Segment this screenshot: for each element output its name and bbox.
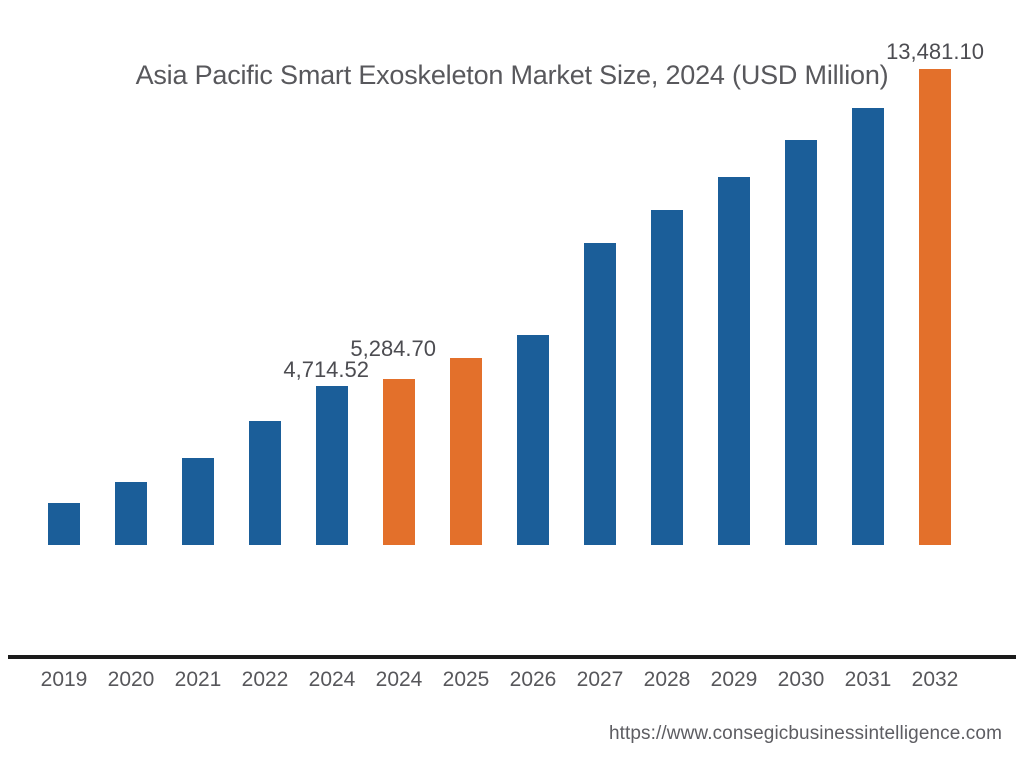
x-tick-label-9: 2028 <box>635 665 699 695</box>
bar-2021-2[interactable] <box>182 458 214 545</box>
bar-2026-7[interactable] <box>517 335 549 545</box>
bar-2029-10[interactable] <box>718 177 750 545</box>
bar-2020-1[interactable] <box>115 482 147 545</box>
x-tick-label-2: 2021 <box>166 665 230 695</box>
bar-group[interactable] <box>836 65 900 545</box>
bar-group[interactable] <box>635 65 699 545</box>
bar-2027-8[interactable] <box>584 243 616 545</box>
bar-2032-13[interactable]: 13,481.10 <box>919 69 951 545</box>
bar-group[interactable] <box>166 65 230 545</box>
bar-2030-11[interactable] <box>785 140 817 545</box>
x-axis-line <box>8 655 1016 659</box>
bar-2024-5[interactable]: 4,714.52 <box>383 379 415 545</box>
plot-area: 4,714.525,284.7013,481.10 <box>0 0 1024 658</box>
bar-2019-0[interactable] <box>48 503 80 545</box>
x-axis-tick-labels: 2019202020212022202420242025202620272028… <box>0 663 1024 699</box>
x-tick-label-0: 2019 <box>32 665 96 695</box>
bar-group[interactable] <box>233 65 297 545</box>
bar-2025-6[interactable]: 5,284.70 <box>450 358 482 545</box>
x-tick-label-11: 2030 <box>769 665 833 695</box>
bar-group[interactable] <box>568 65 632 545</box>
x-tick-label-3: 2022 <box>233 665 297 695</box>
x-tick-label-10: 2029 <box>702 665 766 695</box>
x-tick-label-6: 2025 <box>434 665 498 695</box>
x-tick-label-1: 2020 <box>99 665 163 695</box>
bar-group[interactable]: 13,481.10 <box>903 65 967 545</box>
bar-group[interactable] <box>99 65 163 545</box>
bar-2031-12[interactable] <box>852 108 884 545</box>
bar-2024-4[interactable] <box>316 386 348 545</box>
bar-value-label: 5,284.70 <box>350 336 436 362</box>
x-tick-label-8: 2027 <box>568 665 632 695</box>
bar-group[interactable]: 4,714.52 <box>367 65 431 545</box>
source-url-text: https://www.consegicbusinessintelligence… <box>609 723 1002 745</box>
bar-2022-3[interactable] <box>249 421 281 545</box>
bar-group[interactable] <box>32 65 96 545</box>
bar-group[interactable] <box>501 65 565 545</box>
x-tick-label-12: 2031 <box>836 665 900 695</box>
bar-chart-figure: Asia Pacific Smart Exoskeleton Market Si… <box>0 0 1024 768</box>
x-tick-label-5: 2024 <box>367 665 431 695</box>
bar-group[interactable] <box>769 65 833 545</box>
x-tick-label-4: 2024 <box>300 665 364 695</box>
bar-group[interactable] <box>702 65 766 545</box>
x-tick-label-7: 2026 <box>501 665 565 695</box>
x-tick-label-13: 2032 <box>903 665 967 695</box>
bar-group[interactable]: 5,284.70 <box>434 65 498 545</box>
bar-value-label: 13,481.10 <box>886 39 984 65</box>
bar-2028-9[interactable] <box>651 210 683 545</box>
bar-group[interactable] <box>300 65 364 545</box>
